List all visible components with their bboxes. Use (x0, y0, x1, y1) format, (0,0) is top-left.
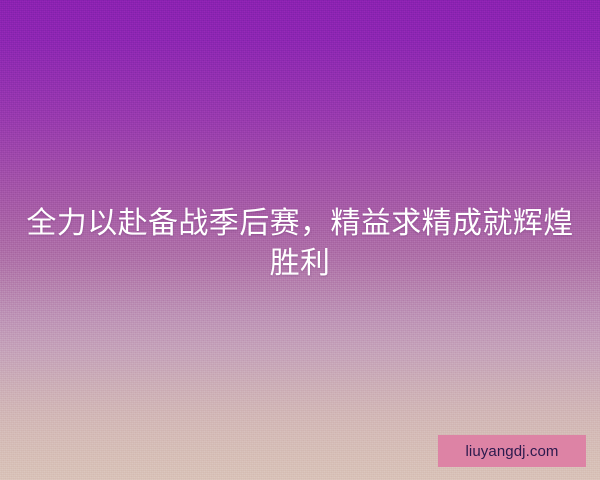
watermark-badge[interactable]: liuyangdj.com (438, 435, 586, 467)
watermark-label: liuyangdj.com (465, 444, 558, 459)
headline-text: 全力以赴备战季后赛，精益求精成就辉煌胜利 (0, 204, 600, 284)
promo-banner: 全力以赴备战季后赛，精益求精成就辉煌胜利 liuyangdj.com (0, 0, 600, 480)
